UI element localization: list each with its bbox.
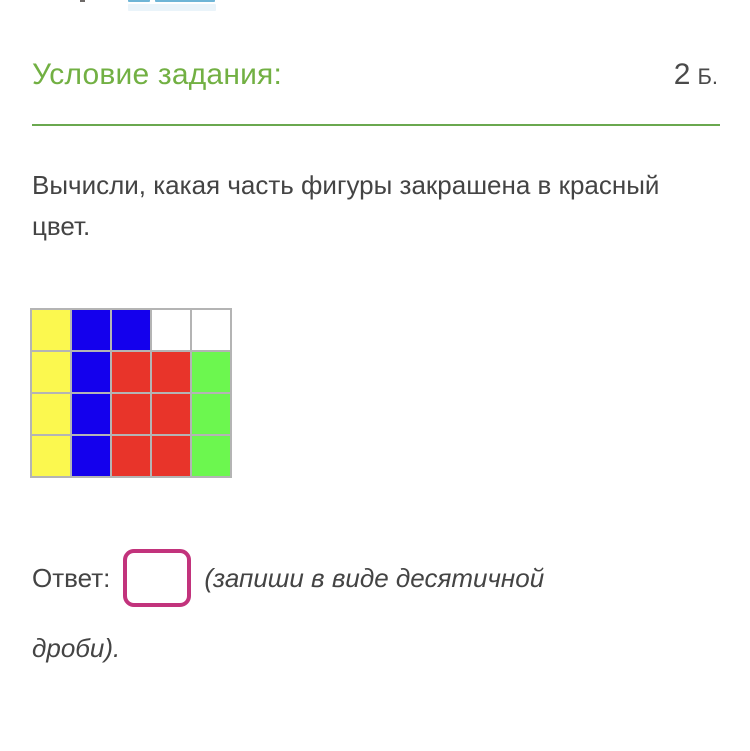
answer-block: Ответ: (запиши в виде десятичной дроби). — [32, 545, 712, 664]
grid-cell-blue — [72, 310, 110, 350]
grid-cell-blue — [112, 310, 150, 350]
top-cutoff-strip — [0, 0, 750, 22]
grid-cell-blue — [72, 352, 110, 392]
figure-color-grid — [30, 308, 232, 478]
points-value: 2 — [674, 58, 691, 92]
grid-cell-green — [192, 436, 230, 476]
grid-cell-white — [152, 310, 190, 350]
grid-cell-blue — [72, 436, 110, 476]
answer-hint-line1: (запиши в виде десятичной — [204, 563, 544, 594]
grid-cell-red — [152, 394, 190, 434]
grid-cell-yellow — [32, 394, 70, 434]
answer-input[interactable] — [123, 549, 191, 607]
grid-cell-red — [112, 394, 150, 434]
answer-row: Ответ: (запиши в виде десятичной — [32, 545, 712, 611]
grid-cell-white — [192, 310, 230, 350]
grid-container — [30, 308, 232, 478]
points-badge: 2 Б. — [674, 58, 718, 92]
grid-cell-green — [192, 394, 230, 434]
answer-label: Ответ: — [32, 563, 110, 594]
grid-cell-yellow — [32, 436, 70, 476]
task-statement: Вычисли, какая часть фигуры закрашена в … — [32, 165, 692, 247]
task-header: Условие задания: 2 Б. — [32, 58, 718, 110]
answer-hint-line2: дроби). — [32, 633, 712, 664]
breadcrumb-link-fragment[interactable] — [128, 0, 150, 2]
grid-cell-yellow — [32, 310, 70, 350]
grid-cell-red — [152, 352, 190, 392]
breadcrumb-link-fragment-2[interactable] — [155, 0, 215, 2]
breadcrumb-underline — [128, 4, 216, 11]
grid-cell-green — [192, 352, 230, 392]
header-divider — [32, 124, 720, 126]
grid-cell-yellow — [32, 352, 70, 392]
grid-cell-blue — [72, 394, 110, 434]
grid-cell-red — [112, 436, 150, 476]
page-title: Условие задания: — [32, 58, 282, 92]
breadcrumb-fragment-icon — [80, 0, 85, 2]
grid-cell-red — [152, 436, 190, 476]
grid-cell-red — [112, 352, 150, 392]
points-unit: Б. — [697, 64, 718, 90]
